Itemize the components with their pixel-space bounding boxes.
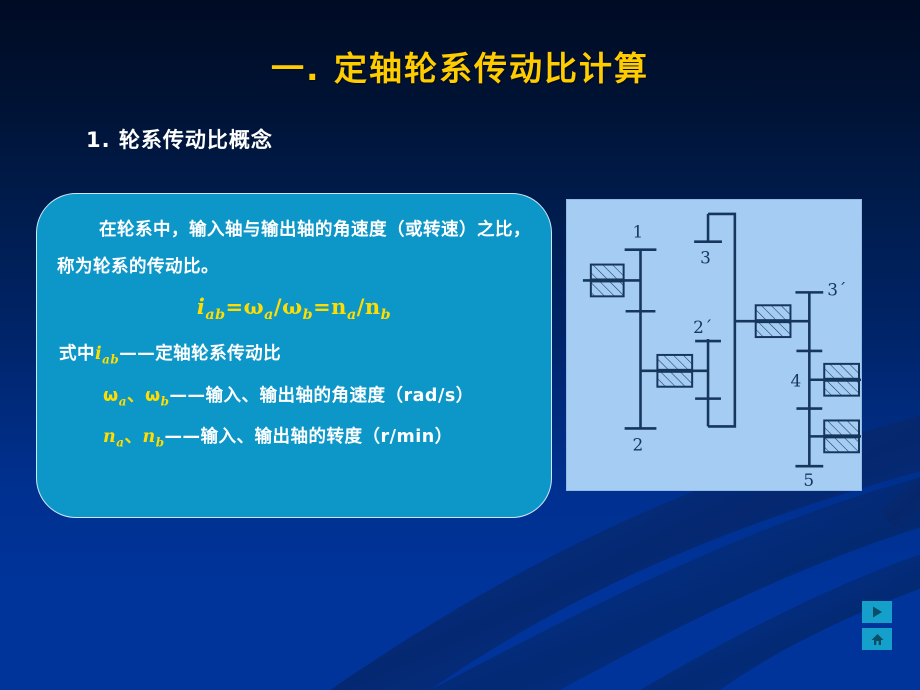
next-slide-button[interactable] bbox=[862, 601, 892, 623]
formula-n1: n bbox=[331, 294, 347, 319]
formula-n2: n bbox=[365, 294, 381, 319]
where-clause-i: 式中iab——定轴轮系传动比 bbox=[57, 336, 531, 378]
where-prefix: 式中 bbox=[59, 344, 95, 364]
concept-definition-box: 在轮系中，输入轴与输出轴的角速度（或转速）之比，称为轮系的传动比。 iab=ωa… bbox=[36, 193, 552, 518]
diagram-label-5: 5 bbox=[803, 470, 814, 490]
gear-train-diagram-panel: 1 2 3 2´ 3´ 4 5 bbox=[566, 199, 862, 491]
where-description: ——定轴轮系传动比 bbox=[119, 344, 281, 364]
gear-train-schematic: 1 2 3 2´ 3´ 4 5 bbox=[567, 200, 861, 490]
section-subtitle: 1. 轮系传动比概念 bbox=[86, 124, 273, 154]
diagram-label-2-prime: 2´ bbox=[693, 317, 712, 337]
n-b: n bbox=[142, 427, 155, 447]
omega-a: ω bbox=[103, 386, 119, 406]
n-separator: 、 bbox=[124, 427, 142, 447]
formula-n1-sub: a bbox=[347, 307, 357, 323]
n-a: n bbox=[103, 427, 116, 447]
where-symbol-i-sub: ab bbox=[102, 353, 119, 367]
slide-title: 一. 定轴轮系传动比计算 bbox=[0, 42, 920, 90]
home-icon bbox=[870, 632, 885, 647]
formula-omega1: ω bbox=[244, 294, 265, 319]
diagram-label-2: 2 bbox=[633, 434, 644, 454]
omega-description: ——输入、输出轴的角速度（rad/s） bbox=[169, 386, 473, 406]
omega-separator: 、 bbox=[127, 386, 145, 406]
diagram-label-3: 3 bbox=[700, 248, 711, 268]
diagram-label-3-prime: 3´ bbox=[827, 279, 846, 299]
omega-a-sub: a bbox=[119, 394, 127, 408]
diagram-label-4: 4 bbox=[790, 371, 801, 391]
n-b-sub: b bbox=[156, 436, 165, 450]
where-clause-omega: ωa、ωb——输入、输出轴的角速度（rad/s） bbox=[57, 378, 531, 420]
formula-omega2: ω bbox=[282, 294, 303, 319]
formula-omega1-sub: a bbox=[264, 307, 274, 323]
omega-b: ω bbox=[145, 386, 161, 406]
formula-eq2: = bbox=[313, 294, 331, 319]
slide-canvas: 一. 定轴轮系传动比计算 1. 轮系传动比概念 在轮系中，输入轴与输出轴的角速度… bbox=[0, 0, 920, 690]
formula-slash2: / bbox=[357, 294, 365, 319]
definition-paragraph: 在轮系中，输入轴与输出轴的角速度（或转速）之比，称为轮系的传动比。 bbox=[57, 212, 531, 286]
play-next-icon bbox=[870, 605, 884, 619]
diagram-label-1: 1 bbox=[633, 222, 644, 242]
formula-i-sub: ab bbox=[205, 307, 225, 323]
formula-slash1: / bbox=[274, 294, 282, 319]
formula-n2-sub: b bbox=[381, 307, 391, 323]
home-button[interactable] bbox=[862, 628, 892, 650]
transmission-ratio-formula: iab=ωa/ωb=na/nb bbox=[57, 286, 531, 336]
where-clause-n: na、nb——输入、输出轴的转度（r/min） bbox=[57, 419, 531, 461]
n-description: ——输入、输出轴的转度（r/min） bbox=[165, 427, 453, 447]
formula-omega2-sub: b bbox=[303, 307, 313, 323]
formula-eq1: = bbox=[226, 294, 244, 319]
